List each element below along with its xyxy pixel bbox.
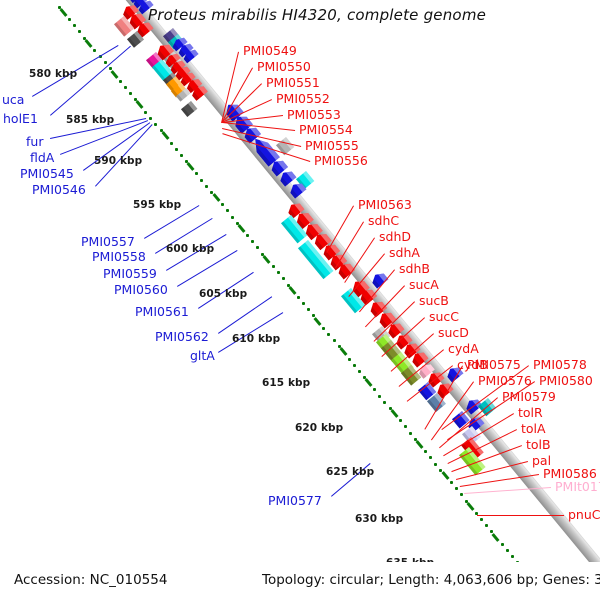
- gene-shadow: [132, 0, 141, 9]
- scale-tick-dot: [363, 376, 366, 379]
- gene-label[interactable]: PMI0549: [243, 45, 297, 57]
- gene-feature[interactable]: [132, 0, 149, 9]
- gene-leader-line: [381, 317, 425, 357]
- gene-shadow: [463, 403, 474, 415]
- gene-feature[interactable]: [174, 64, 191, 80]
- gene-highlight: [469, 426, 481, 440]
- gene-label[interactable]: PMI0580: [539, 375, 593, 387]
- scale-tick-dot: [144, 111, 147, 114]
- gene-highlight: [169, 28, 179, 39]
- gene-label[interactable]: PMI0575: [467, 359, 521, 371]
- scale-tick-dot: [246, 234, 249, 237]
- gene-highlight: [230, 100, 244, 116]
- gene-label[interactable]: PMI0561: [135, 306, 189, 318]
- gene-label[interactable]: PMI0559: [103, 268, 157, 280]
- gene-shadow: [126, 17, 137, 30]
- gene-shadow: [276, 143, 287, 155]
- gene-feature[interactable]: [478, 398, 496, 416]
- gene-feature[interactable]: [465, 414, 484, 433]
- gene-label[interactable]: PMI0556: [314, 155, 368, 167]
- scale-tick-dot: [78, 30, 81, 33]
- gene-shadow: [461, 443, 476, 461]
- gene-feature[interactable]: [426, 369, 445, 388]
- gene-shadow: [367, 305, 378, 318]
- gene-feature[interactable]: [328, 251, 348, 271]
- gene-feature[interactable]: [176, 88, 190, 102]
- genome-backbone: [107, 0, 600, 600]
- gene-leader-line: [222, 115, 283, 123]
- scale-tick-major: [492, 533, 500, 542]
- scale-label: 595 kbp: [133, 199, 181, 211]
- gene-label[interactable]: PMI0553: [287, 109, 341, 121]
- gene-leader-line: [359, 269, 395, 312]
- gene-feature[interactable]: [288, 180, 307, 199]
- scale-label: 620 kbp: [295, 422, 343, 434]
- scale-tick-dot: [409, 432, 412, 435]
- scale-tick-dot: [424, 450, 427, 453]
- gene-feature[interactable]: [349, 277, 369, 297]
- gene-feature[interactable]: [381, 340, 402, 362]
- gene-label[interactable]: PMI0560: [114, 284, 168, 296]
- leader-line-layer: [0, 0, 600, 600]
- gene-label[interactable]: holE1: [3, 113, 38, 125]
- gene-feature[interactable]: [296, 171, 314, 189]
- gene-shadow: [269, 164, 280, 177]
- gene-shadow: [281, 221, 300, 243]
- gene-label[interactable]: tolA: [521, 423, 546, 435]
- gene-highlight: [181, 64, 191, 74]
- gene-shadow: [232, 119, 245, 134]
- gene-highlight: [187, 70, 197, 80]
- scale-tick-dot: [58, 6, 61, 9]
- gene-highlight: [424, 361, 435, 373]
- gene-leader-line: [344, 237, 375, 283]
- topology-text: Topology: circular; Length: 4,063,606 bp…: [262, 572, 600, 588]
- gene-feature[interactable]: [179, 70, 196, 86]
- gene-highlight: [384, 309, 396, 322]
- scale-tick-major: [263, 255, 271, 264]
- gene-shadow: [171, 89, 179, 97]
- gene-shadow: [127, 38, 137, 49]
- gene-feature[interactable]: [169, 58, 186, 74]
- gene-highlight: [459, 411, 470, 423]
- gene-highlight: [173, 76, 182, 86]
- gene-label[interactable]: PMI0555: [305, 140, 359, 152]
- gene-shadow: [174, 71, 183, 80]
- gene-feature[interactable]: [372, 326, 390, 344]
- gene-shadow: [302, 227, 314, 240]
- gene-highlight: [328, 241, 340, 254]
- scale-tick-dot: [104, 61, 107, 64]
- gene-shadow: [385, 327, 396, 339]
- gene-label[interactable]: PMI0563: [358, 199, 412, 211]
- gene-feature[interactable]: [401, 365, 421, 386]
- gene-feature[interactable]: [171, 35, 188, 51]
- gene-label[interactable]: tolR: [518, 407, 543, 419]
- gene-label[interactable]: fldA: [30, 152, 54, 164]
- gene-feature[interactable]: [459, 447, 486, 475]
- gene-feature[interactable]: [127, 31, 144, 48]
- scale-tick-dot: [333, 339, 336, 342]
- gene-feature[interactable]: [461, 437, 484, 461]
- gene-shadow: [241, 131, 252, 144]
- gene-highlight: [276, 157, 288, 170]
- gene-shadow: [349, 284, 361, 297]
- gene-label[interactable]: sdhB: [399, 263, 430, 275]
- gene-leader-line: [348, 253, 385, 297]
- scale-tick-dot: [348, 358, 351, 361]
- scale-tick-dot: [149, 117, 152, 120]
- gene-feature[interactable]: [409, 349, 428, 368]
- scale-tick-major: [237, 224, 245, 233]
- gene-feature[interactable]: [418, 382, 436, 400]
- scale-tick-dot: [282, 277, 285, 280]
- gene-shadow: [465, 421, 476, 433]
- gene-highlight: [179, 35, 189, 45]
- gene-feature[interactable]: [357, 286, 377, 306]
- gene-shadow: [166, 83, 174, 92]
- gene-highlight: [239, 112, 253, 128]
- gene-feature[interactable]: [166, 76, 182, 91]
- scale-tick-major: [212, 193, 220, 202]
- gene-highlight: [293, 200, 305, 212]
- gene-leader-line: [439, 397, 498, 448]
- scale-tick-dot: [180, 154, 183, 157]
- scale-tick-dot: [83, 37, 86, 40]
- gene-shadow: [155, 48, 166, 61]
- gene-highlight: [402, 331, 414, 343]
- scale-tick-major: [161, 131, 169, 140]
- gene-highlight: [128, 2, 139, 14]
- gene-label[interactable]: PMI0562: [155, 331, 209, 343]
- gene-shadow: [222, 108, 235, 123]
- gene-label[interactable]: uca: [2, 94, 24, 106]
- scale-tick-dot: [307, 308, 310, 311]
- gene-label[interactable]: fur: [26, 136, 43, 148]
- gene-feature[interactable]: [311, 230, 331, 250]
- gene-feature[interactable]: [176, 41, 193, 57]
- gene-label[interactable]: gltA: [190, 350, 215, 362]
- scale-tick-dot: [261, 253, 264, 256]
- gene-feature[interactable]: [181, 101, 197, 117]
- gene-label[interactable]: cydA: [448, 343, 479, 355]
- gene-label[interactable]: PMI0576: [478, 375, 532, 387]
- scale-tick-dot: [251, 240, 254, 243]
- gene-highlight: [249, 124, 261, 137]
- gene-feature[interactable]: [171, 83, 186, 97]
- gene-feature[interactable]: [385, 320, 404, 339]
- scale-tick-dot: [404, 425, 407, 428]
- gene-highlight: [192, 76, 202, 87]
- scale-tick-dot: [68, 18, 71, 21]
- gene-highlight: [133, 31, 143, 42]
- gene-feature[interactable]: [427, 393, 446, 412]
- gene-feature[interactable]: [155, 41, 175, 61]
- gene-highlight: [409, 340, 421, 352]
- gene-highlight: [285, 168, 297, 180]
- scale-tick-dot: [134, 98, 137, 101]
- gene-leader-line: [222, 122, 295, 131]
- gene-shadow: [417, 368, 427, 379]
- gene-feature[interactable]: [462, 426, 481, 445]
- scale-tick-dot: [99, 55, 102, 58]
- gene-leader-line: [335, 221, 364, 268]
- gene-label[interactable]: PMI0546: [32, 184, 86, 196]
- scale-tick-dot: [327, 333, 330, 336]
- gene-feature[interactable]: [126, 10, 146, 30]
- gene-leader-line: [221, 68, 253, 123]
- scale-tick-dot: [277, 271, 280, 274]
- gene-feature[interactable]: [152, 59, 173, 81]
- scale-tick-dot: [480, 518, 483, 521]
- gene-feature[interactable]: [376, 334, 400, 359]
- gene-highlight: [347, 288, 364, 308]
- gene-label[interactable]: sucA: [409, 279, 439, 291]
- gene-feature[interactable]: [146, 52, 163, 69]
- gene-label[interactable]: PMI0551: [266, 77, 320, 89]
- scale-tick-dot: [109, 67, 112, 70]
- gene-shadow: [286, 207, 297, 219]
- gene-highlight: [282, 137, 294, 150]
- scale-tick-major: [136, 101, 144, 110]
- gene-feature[interactable]: [168, 34, 184, 49]
- gene-label[interactable]: sdhD: [379, 231, 411, 243]
- gene-leader-line: [222, 128, 301, 147]
- gene-label[interactable]: sucC: [429, 311, 459, 323]
- gene-feature[interactable]: [302, 220, 322, 240]
- gene-leader-line: [464, 487, 551, 494]
- gene-feature[interactable]: [335, 260, 355, 280]
- gene-label[interactable]: PMIt017: [555, 481, 600, 493]
- gene-shadow: [181, 107, 190, 117]
- scale-tick-major: [390, 409, 398, 418]
- gene-shadow: [435, 387, 446, 399]
- gene-shadow: [171, 42, 180, 51]
- gene-shadow: [478, 404, 489, 416]
- scale-tick-dot: [302, 302, 305, 305]
- genome-viewer-canvas: Proteus mirabilis HI4320, complete genom…: [0, 0, 600, 600]
- gene-shadow: [176, 94, 183, 102]
- scale-tick-major: [110, 70, 118, 79]
- scale-tick-dot: [272, 265, 275, 268]
- gene-feature[interactable]: [269, 157, 289, 177]
- scale-label: 580 kbp: [29, 68, 77, 80]
- gene-label[interactable]: sucD: [438, 327, 469, 339]
- gene-feature[interactable]: [232, 112, 254, 134]
- gene-highlight: [295, 180, 307, 192]
- gene-highlight: [357, 277, 370, 291]
- gene-highlight: [465, 447, 485, 470]
- gene-shadow: [164, 59, 173, 68]
- gene-leader-line: [431, 381, 474, 440]
- gene-highlight: [433, 369, 445, 381]
- accession-text: Accession: NC_010554: [14, 572, 167, 588]
- gene-label[interactable]: PMI0577: [268, 495, 322, 507]
- scale-tick-dot: [256, 246, 259, 249]
- gene-feature[interactable]: [286, 200, 305, 219]
- scale-tick-dot: [160, 129, 163, 132]
- gene-label[interactable]: PMI0550: [257, 61, 311, 73]
- scale-tick-dot: [414, 438, 417, 441]
- gene-highlight: [393, 320, 405, 332]
- scale-tick-dot: [434, 463, 437, 466]
- scale-tick-major: [441, 471, 449, 480]
- gene-feature[interactable]: [184, 76, 202, 93]
- gene-feature[interactable]: [162, 49, 182, 69]
- scale-tick-dot: [195, 172, 198, 175]
- gene-leader-line: [456, 461, 528, 480]
- scale-tick-dot: [501, 543, 504, 546]
- scale-tick-dot: [154, 123, 157, 126]
- gene-feature[interactable]: [114, 16, 134, 37]
- gene-label[interactable]: PMI0579: [502, 391, 556, 403]
- gene-feature[interactable]: [277, 168, 296, 187]
- gene-label[interactable]: PMI0558: [92, 251, 146, 263]
- gene-feature[interactable]: [298, 240, 333, 279]
- gene-highlight: [471, 396, 483, 408]
- gene-highlight: [287, 215, 307, 238]
- gene-highlight: [335, 251, 347, 264]
- gene-highlight: [468, 437, 484, 455]
- scale-tick-dot: [429, 456, 432, 459]
- gene-shadow: [394, 338, 405, 350]
- gene-leader-line: [406, 365, 453, 402]
- gene-label[interactable]: tolB: [526, 439, 551, 451]
- scale-tick-dot: [129, 92, 132, 95]
- gene-feature[interactable]: [164, 51, 181, 67]
- gene-highlight: [365, 286, 377, 299]
- gene-highlight: [408, 365, 422, 380]
- page-title: Proteus mirabilis HI4320, complete genom…: [148, 6, 486, 24]
- gene-highlight: [484, 398, 496, 411]
- gene-feature[interactable]: [435, 380, 454, 399]
- genome-track: [0, 0, 600, 600]
- gene-shadow: [452, 417, 462, 428]
- gene-highlight: [178, 83, 186, 92]
- gene-feature[interactable]: [163, 28, 179, 44]
- gene-feature[interactable]: [190, 83, 209, 101]
- gene-shadow: [137, 6, 146, 15]
- gene-highlight: [319, 230, 332, 244]
- gene-feature[interactable]: [391, 352, 414, 376]
- gene-shadow: [376, 340, 393, 359]
- scale-label: 610 kbp: [232, 333, 280, 345]
- scale-tick-major: [416, 440, 424, 449]
- gene-highlight: [162, 41, 174, 54]
- gene-shadow: [426, 376, 437, 388]
- gene-feature[interactable]: [293, 209, 313, 229]
- scale-tick-dot: [119, 80, 122, 83]
- gene-shadow: [134, 26, 145, 38]
- gene-feature[interactable]: [241, 124, 261, 144]
- gene-feature[interactable]: [276, 137, 294, 155]
- scale-tick-major: [288, 286, 296, 295]
- scale-label: 585 kbp: [66, 114, 114, 126]
- scale-tick-dot: [236, 222, 239, 225]
- scale-tick-dot: [124, 86, 127, 89]
- scale-tick-dot: [353, 364, 356, 367]
- gene-leader-line: [177, 250, 238, 287]
- gene-leader-line: [222, 99, 272, 123]
- gene-feature[interactable]: [281, 215, 308, 243]
- scale-label: 630 kbp: [355, 513, 403, 525]
- scale-tick-dot: [389, 407, 392, 410]
- gene-highlight: [305, 240, 334, 274]
- gene-shadow: [152, 65, 166, 81]
- gene-label[interactable]: sdhC: [368, 215, 399, 227]
- gene-shadow: [311, 238, 323, 251]
- gene-shadow: [372, 333, 383, 345]
- gene-feature[interactable]: [367, 298, 387, 318]
- gene-shadow: [298, 246, 326, 279]
- gene-shadow: [176, 48, 185, 57]
- gene-shadow: [163, 34, 172, 44]
- gene-highlight: [301, 209, 314, 223]
- gene-highlight: [442, 380, 454, 392]
- gene-highlight: [425, 382, 437, 395]
- gene-shadow: [163, 78, 171, 86]
- gene-label[interactable]: PMI0552: [276, 93, 330, 105]
- gene-label[interactable]: sucB: [419, 295, 449, 307]
- gene-feature[interactable]: [402, 340, 421, 359]
- gene-feature[interactable]: [163, 72, 178, 86]
- gene-label[interactable]: PMI0554: [299, 124, 353, 136]
- gene-highlight: [303, 171, 315, 184]
- gene-feature[interactable]: [452, 411, 470, 429]
- gene-feature[interactable]: [341, 288, 365, 313]
- gene-feature[interactable]: [394, 331, 413, 350]
- gene-highlight: [417, 349, 429, 361]
- scale-label: 625 kbp: [326, 466, 374, 478]
- gene-feature[interactable]: [370, 270, 389, 289]
- gene-highlight: [134, 10, 146, 23]
- gene-label[interactable]: sdhA: [389, 247, 420, 259]
- scale-tick-dot: [73, 24, 76, 27]
- gene-shadow: [250, 141, 272, 167]
- footer-bar: Accession: NC_010554 Topology: circular;…: [0, 562, 600, 600]
- scale-tick-dot: [511, 555, 514, 558]
- gene-leader-line: [373, 301, 415, 342]
- gene-leader-line: [448, 429, 517, 464]
- gene-feature[interactable]: [222, 100, 244, 122]
- scale-tick-dot: [485, 524, 488, 527]
- gene-highlight: [473, 414, 485, 426]
- gene-label[interactable]: PMI0545: [20, 168, 74, 180]
- gene-shadow: [181, 55, 190, 64]
- gene-leader-line: [218, 296, 273, 334]
- scale-tick-major: [59, 8, 67, 17]
- gene-feature[interactable]: [320, 241, 340, 261]
- gene-feature[interactable]: [376, 309, 396, 329]
- gene-label[interactable]: PMI0578: [533, 359, 587, 371]
- gene-shadow: [341, 294, 358, 313]
- gene-label[interactable]: PMI0557: [81, 236, 135, 248]
- gene-label[interactable]: pnuC: [568, 509, 600, 521]
- gene-feature[interactable]: [120, 2, 139, 20]
- scale-label: 605 kbp: [199, 288, 247, 300]
- gene-highlight: [176, 58, 186, 68]
- scale-tick-dot: [439, 469, 442, 472]
- gene-feature[interactable]: [250, 134, 281, 167]
- gene-feature[interactable]: [463, 396, 482, 415]
- gene-highlight: [139, 0, 149, 2]
- scale-tick-dot: [226, 209, 229, 212]
- gene-feature[interactable]: [127, 0, 145, 3]
- gene-highlight: [434, 393, 446, 407]
- gene-shadow: [293, 216, 305, 229]
- gene-feature[interactable]: [181, 47, 198, 63]
- gene-feature[interactable]: [417, 361, 436, 379]
